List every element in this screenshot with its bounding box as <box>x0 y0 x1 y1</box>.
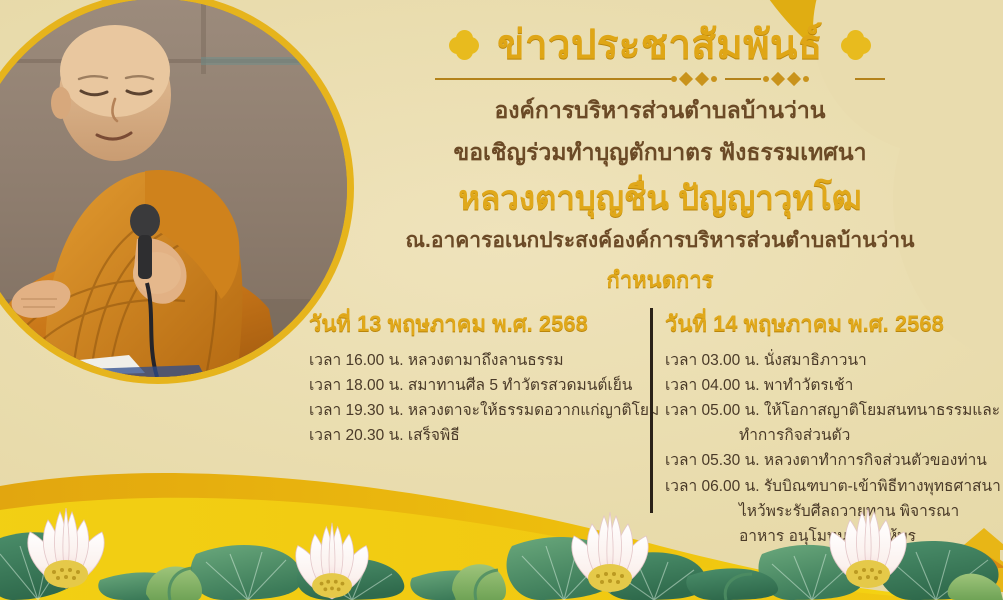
page-title: ข่าวประชาสัมพันธ์ <box>497 22 823 68</box>
poster-root: ข่าวประชาสัมพันธ์ องค์การบริหารส่วนตำบลบ… <box>0 0 1003 600</box>
title-divider-ornament <box>425 71 895 87</box>
title-row: ข่าวประชาสัมพันธ์ <box>330 22 990 68</box>
schedule-day1-item: เวลา 20.30 น. เสร็จพิธี <box>295 423 621 448</box>
schedule-day2-item: อาหาร อนุโมทนาบุญให้พร <box>661 524 995 549</box>
schedule-day2-item: เวลา 05.30 น. หลวงตาทำการกิจส่วนตัวของท่… <box>661 448 995 473</box>
schedule-column-day1: วันที่ 13 พฤษภาคม พ.ศ. 2568 เวลา 16.00 น… <box>295 306 643 448</box>
monk-name: หลวงตาบุญชื่น ปัญญาวุทโฒ <box>330 178 990 218</box>
schedule-day1-item: เวลา 16.00 น. หลวงตามาถึงลานธรรม <box>295 348 621 373</box>
schedule-day2-item: เวลา 04.00 น. พาทำวัตรเช้า <box>661 373 995 398</box>
schedule-column-divider <box>650 308 653 513</box>
schedule-day2-item: เวลา 06.00 น. รับบิณฑบาต-เข้าพิธีทางพุทธ… <box>661 474 995 499</box>
schedule-day2-heading: วันที่ 14 พฤษภาคม พ.ศ. 2568 <box>661 306 995 341</box>
agenda-label: กำหนดการ <box>330 262 990 297</box>
invitation-line: ขอเชิญร่วมทำบุญตักบาตร ฟังธรรมเทศนา <box>330 136 990 169</box>
schedule-day2-item: เวลา 05.00 น. ให้โอกาสญาติโยมสนทนาธรรมแล… <box>661 398 995 423</box>
organization-name: องค์การบริหารส่วนตำบลบ้านว่าน <box>330 94 990 127</box>
schedule-day1-item: เวลา 19.30 น. หลวงตาจะให้ธรรมดอวากแก่ญาต… <box>295 398 621 423</box>
schedule-day2-item: ไหว้พระรับศีลถวายทาน พิจารณา <box>661 499 995 524</box>
schedule-section: วันที่ 13 พฤษภาคม พ.ศ. 2568 เวลา 16.00 น… <box>295 306 995 549</box>
schedule-day2-item: เวลา 03.00 น. นั่งสมาธิภาวนา <box>661 348 995 373</box>
schedule-day1-heading: วันที่ 13 พฤษภาคม พ.ศ. 2568 <box>295 306 621 341</box>
quatrefoil-flower-icon-right <box>841 30 871 60</box>
schedule-column-day2: วันที่ 14 พฤษภาคม พ.ศ. 2568 เวลา 03.00 น… <box>643 306 995 549</box>
schedule-day1-item: เวลา 18.00 น. สมาทานศีล 5 ทำวัตรสวดมนต์เ… <box>295 373 621 398</box>
quatrefoil-flower-icon-left <box>449 30 479 60</box>
header-block: ข่าวประชาสัมพันธ์ องค์การบริหารส่วนตำบลบ… <box>330 22 990 297</box>
venue-line: ณ.อาคารอเนกประสงค์องค์การบริหารส่วนตำบลบ… <box>330 226 990 256</box>
schedule-day2-item: ทำการกิจส่วนตัว <box>661 423 995 448</box>
